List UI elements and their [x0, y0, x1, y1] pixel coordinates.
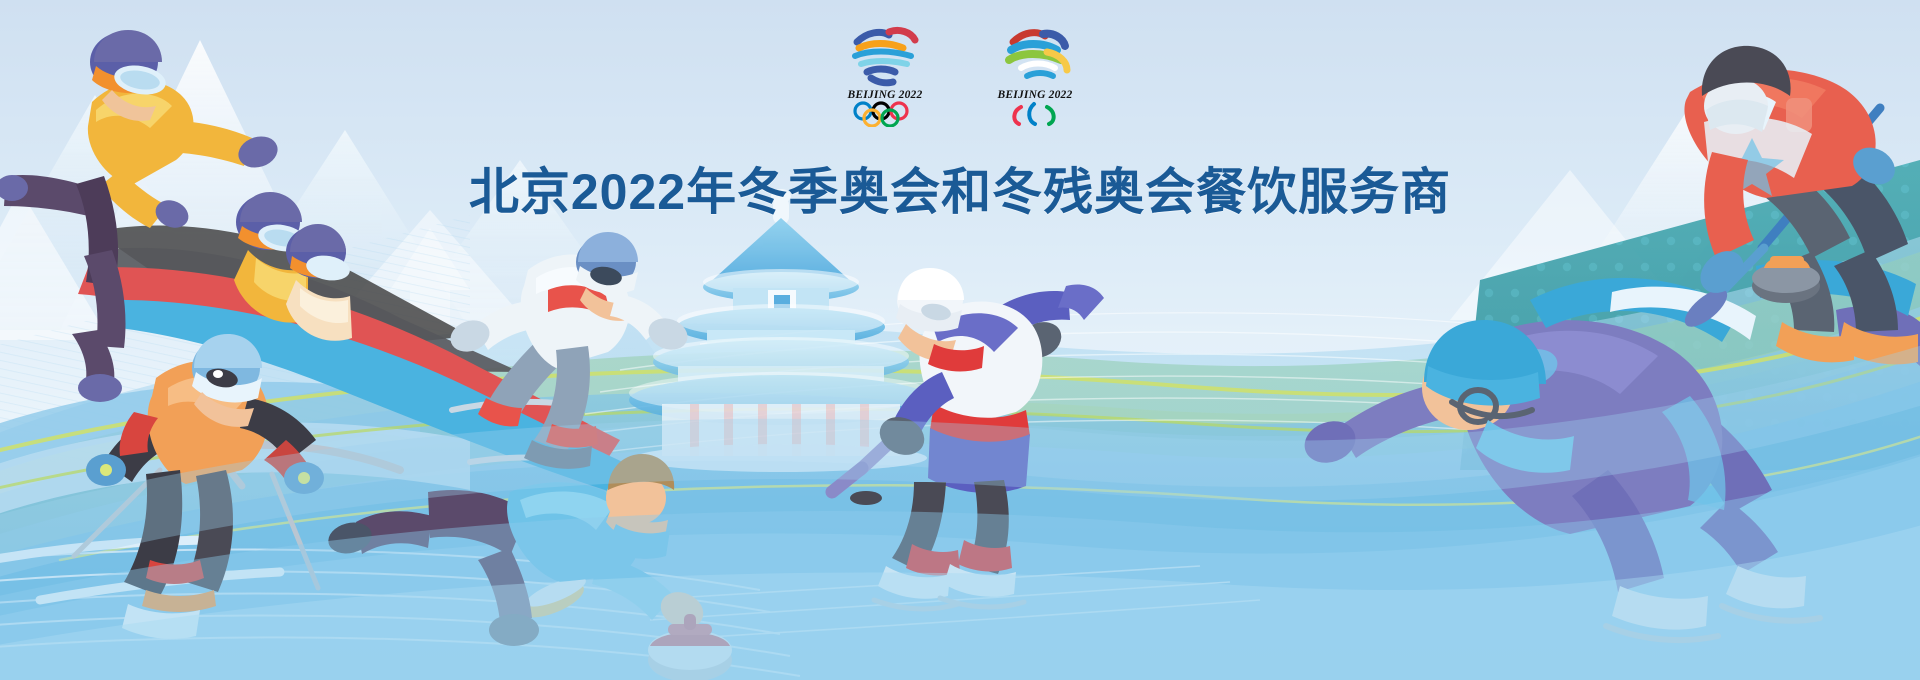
paralympic-emblem: BEIJING 2022	[987, 26, 1083, 127]
olympic-rings-icon	[837, 101, 933, 127]
emblem-row: BEIJING 2022	[0, 26, 1920, 127]
olympic-emblem: BEIJING 2022	[837, 26, 933, 127]
olympic-banner: BEIJING 2022	[0, 0, 1920, 680]
olympic-emblem-wordmark: BEIJING 2022	[837, 89, 933, 101]
paralympic-emblem-mark	[987, 26, 1083, 88]
olympic-emblem-mark	[837, 26, 933, 88]
paralympic-emblem-wordmark: BEIJING 2022	[987, 89, 1083, 101]
agitos-icon	[987, 101, 1083, 127]
